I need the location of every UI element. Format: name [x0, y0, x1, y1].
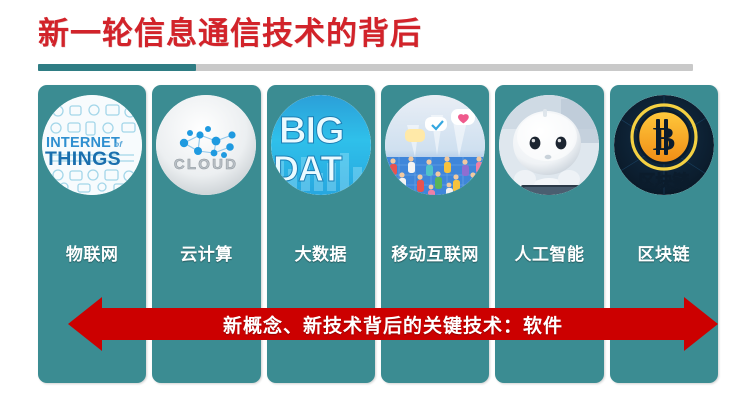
svg-text:BIG: BIG	[279, 110, 344, 152]
cloud-computing-image: CLOUD	[156, 95, 256, 195]
title-underline-accent	[38, 64, 196, 71]
card-label: 物联网	[42, 245, 142, 265]
title-block: 新一轮信息通信技术的背后	[38, 16, 718, 53]
card-label: 大数据	[271, 245, 371, 265]
page-title: 新一轮信息通信技术的背后	[38, 16, 718, 53]
card-label: 区块链	[614, 245, 714, 265]
big-data-image: BIG DAT	[271, 95, 371, 195]
artificial-intelligence-robot-image	[499, 95, 599, 195]
key-technology-arrow-banner: 新概念、新技术背后的关键技术：软件	[68, 297, 718, 351]
arrow-banner-text: 新概念、新技术背后的关键技术：软件	[68, 297, 718, 351]
title-underline-rule	[38, 64, 693, 71]
svg-text:THINGS: THINGS	[45, 148, 121, 170]
blockchain-bitcoin-image: B 区块链	[614, 95, 714, 195]
svg-text:B: B	[652, 121, 675, 158]
card-label: 云计算	[156, 245, 256, 265]
card-label: 移动互联网	[385, 245, 485, 265]
card-label: 人工智能	[499, 245, 599, 265]
svg-text:DAT: DAT	[273, 148, 342, 189]
svg-text:CLOUD: CLOUD	[174, 156, 238, 173]
internet-of-things-image: INTERNET of THINGS	[42, 95, 142, 195]
mobile-internet-crowd-image	[385, 95, 485, 195]
slide-canvas: 新一轮信息通信技术的背后	[0, 0, 755, 405]
blockchain-image-caption: 区块链	[638, 171, 690, 191]
